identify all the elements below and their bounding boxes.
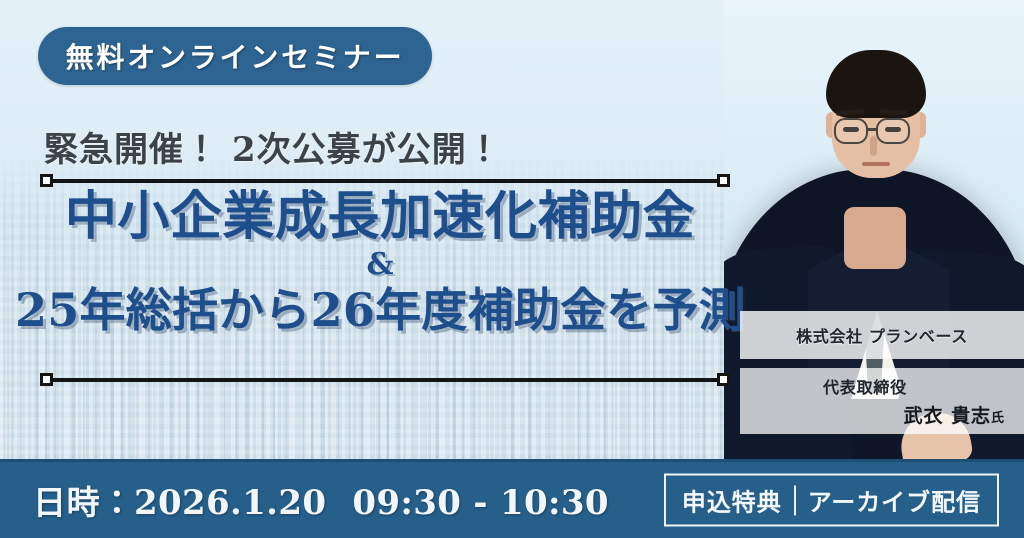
speaker-company-box: 株式会社 プランベース	[740, 311, 1024, 359]
perk-separator	[794, 485, 796, 515]
portrait-nose	[870, 136, 877, 156]
event-time: 09:30 - 10:30	[352, 483, 609, 523]
free-seminar-badge: 無料オンラインセミナー	[38, 27, 432, 85]
main-title-connector: &	[0, 249, 760, 281]
portrait-eyeglass-right	[876, 118, 910, 144]
portrait-eyeglass-left	[834, 118, 868, 144]
datetime-block: 日時：2026.1.2009:30 - 10:30	[33, 476, 609, 524]
event-date: 2026.1.20	[134, 483, 326, 523]
speaker-role: 代表取締役	[726, 374, 1004, 398]
perk-badge: 申込特典 アーカイブ配信	[664, 474, 999, 527]
free-seminar-badge-label: 無料オンラインセミナー	[66, 36, 405, 76]
portrait-neck	[844, 207, 906, 269]
speaker-identity-box: 代表取締役 武衣 貴志氏	[740, 368, 1024, 434]
divider-endcap-left	[40, 373, 53, 386]
speaker-name-suffix: 氏	[991, 411, 1004, 426]
perk-value: アーカイブ配信	[808, 483, 981, 518]
portrait-mouth	[862, 162, 890, 166]
main-title: 中小企業成長加速化補助金 & 25年総括から26年度補助金を予測	[0, 186, 760, 338]
subtitle-text: 緊急開催！ 2次公募が公開！	[44, 122, 502, 171]
datetime-label: 日時：	[33, 483, 134, 522]
speaker-name-row: 武衣 貴志氏	[740, 401, 1004, 428]
portrait-eyeglass-bridge	[868, 128, 878, 131]
speaker-company-name: 株式会社 プランベース	[796, 323, 968, 347]
footer-bar: 日時：2026.1.2009:30 - 10:30 申込特典 アーカイブ配信	[0, 459, 1024, 538]
seminar-banner: 無料オンラインセミナー 緊急開催！ 2次公募が公開！ 中小企業成長加速化補助金 …	[0, 0, 1024, 538]
speaker-name: 武衣 貴志	[904, 405, 991, 427]
main-title-line-1: 中小企業成長加速化補助金	[0, 186, 760, 247]
divider-rule-bottom	[45, 378, 725, 382]
perk-label: 申込特典	[682, 483, 782, 518]
divider-rule-top	[45, 179, 725, 183]
main-title-line-2: 25年総括から26年度補助金を予測	[0, 283, 760, 338]
